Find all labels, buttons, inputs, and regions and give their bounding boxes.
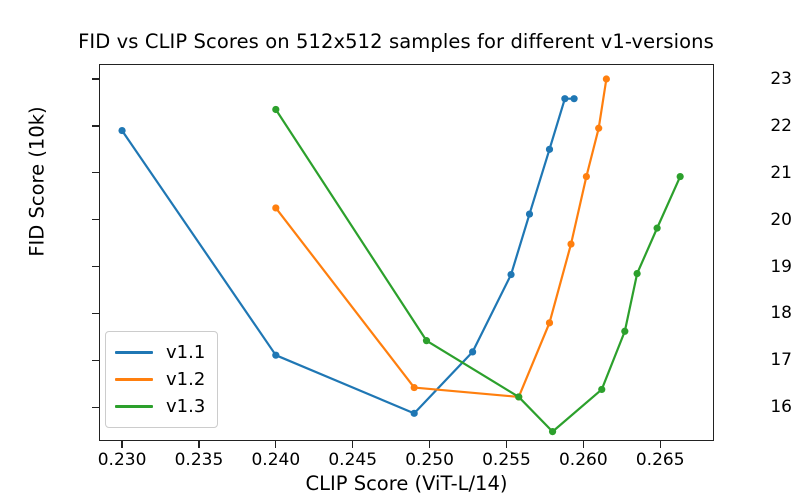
data-point-marker [526, 210, 533, 217]
x-tick-mark [275, 441, 276, 448]
x-tick-mark [429, 441, 430, 448]
data-point-marker [583, 173, 590, 180]
x-tick-mark [506, 441, 507, 448]
y-tick-label: 22 [714, 116, 792, 136]
data-point-marker [654, 225, 661, 232]
data-point-marker [507, 271, 514, 278]
y-tick-label: 19 [714, 257, 792, 277]
data-point-marker [469, 348, 476, 355]
data-point-marker [546, 319, 553, 326]
data-point-marker [411, 410, 418, 417]
data-point-marker [272, 106, 279, 113]
data-point-marker [570, 95, 577, 102]
legend-item-v1.3: v1.3 [115, 393, 205, 420]
data-point-marker [118, 127, 125, 134]
legend-item-v1.2: v1.2 [115, 366, 205, 393]
series-line [276, 109, 680, 431]
y-tick-mark [92, 407, 99, 408]
y-tick-mark [92, 360, 99, 361]
series-v1.2 [272, 75, 610, 400]
legend-color-swatch [115, 351, 153, 354]
data-point-marker [411, 384, 418, 391]
data-point-marker [677, 173, 684, 180]
x-tick-mark [121, 441, 122, 448]
data-point-marker [567, 240, 574, 247]
x-tick-label: 0.245 [328, 450, 377, 470]
data-point-marker [621, 328, 628, 335]
legend-label: v1.2 [166, 371, 205, 389]
y-tick-mark [92, 313, 99, 314]
x-tick-mark [660, 441, 661, 448]
y-tick-mark [92, 172, 99, 173]
y-tick-label: 21 [714, 163, 792, 183]
y-tick-mark [92, 266, 99, 267]
x-tick-label: 0.265 [636, 450, 685, 470]
x-tick-mark [352, 441, 353, 448]
x-tick-label: 0.250 [405, 450, 454, 470]
x-tick-label: 0.235 [175, 450, 224, 470]
y-tick-label: 18 [714, 303, 792, 323]
legend-label: v1.3 [166, 398, 205, 416]
data-point-marker [515, 393, 522, 400]
y-axis-label: FID Score (10k) [26, 52, 49, 312]
data-point-marker [272, 352, 279, 359]
chart-title: FID vs CLIP Scores on 512x512 samples fo… [0, 30, 792, 53]
legend-color-swatch [115, 378, 153, 381]
x-tick-label: 0.240 [251, 450, 300, 470]
x-tick-label: 0.260 [559, 450, 608, 470]
data-point-marker [598, 386, 605, 393]
legend-item-v1.1: v1.1 [115, 339, 205, 366]
data-point-marker [634, 270, 641, 277]
x-tick-label: 0.230 [98, 450, 147, 470]
series-v1.3 [272, 106, 684, 435]
legend-label: v1.1 [166, 344, 205, 362]
y-tick-mark [92, 78, 99, 79]
legend-color-swatch [115, 405, 153, 408]
y-tick-label: 20 [714, 210, 792, 230]
y-tick-label: 16 [714, 397, 792, 417]
data-point-marker [549, 428, 556, 435]
x-tick-mark [198, 441, 199, 448]
data-point-marker [546, 146, 553, 153]
data-point-marker [603, 75, 610, 82]
y-tick-label: 23 [714, 69, 792, 89]
x-tick-label: 0.255 [482, 450, 531, 470]
y-tick-mark [92, 219, 99, 220]
x-axis-label: CLIP Score (ViT-L/14) [99, 472, 714, 495]
figure-canvas: FID vs CLIP Scores on 512x512 samples fo… [0, 0, 792, 504]
data-point-marker [272, 204, 279, 211]
data-point-marker [423, 337, 430, 344]
data-point-marker [561, 95, 568, 102]
data-point-marker [595, 125, 602, 132]
legend: v1.1v1.2v1.3 [105, 331, 218, 428]
x-tick-mark [583, 441, 584, 448]
y-tick-mark [92, 125, 99, 126]
y-tick-label: 17 [714, 350, 792, 370]
